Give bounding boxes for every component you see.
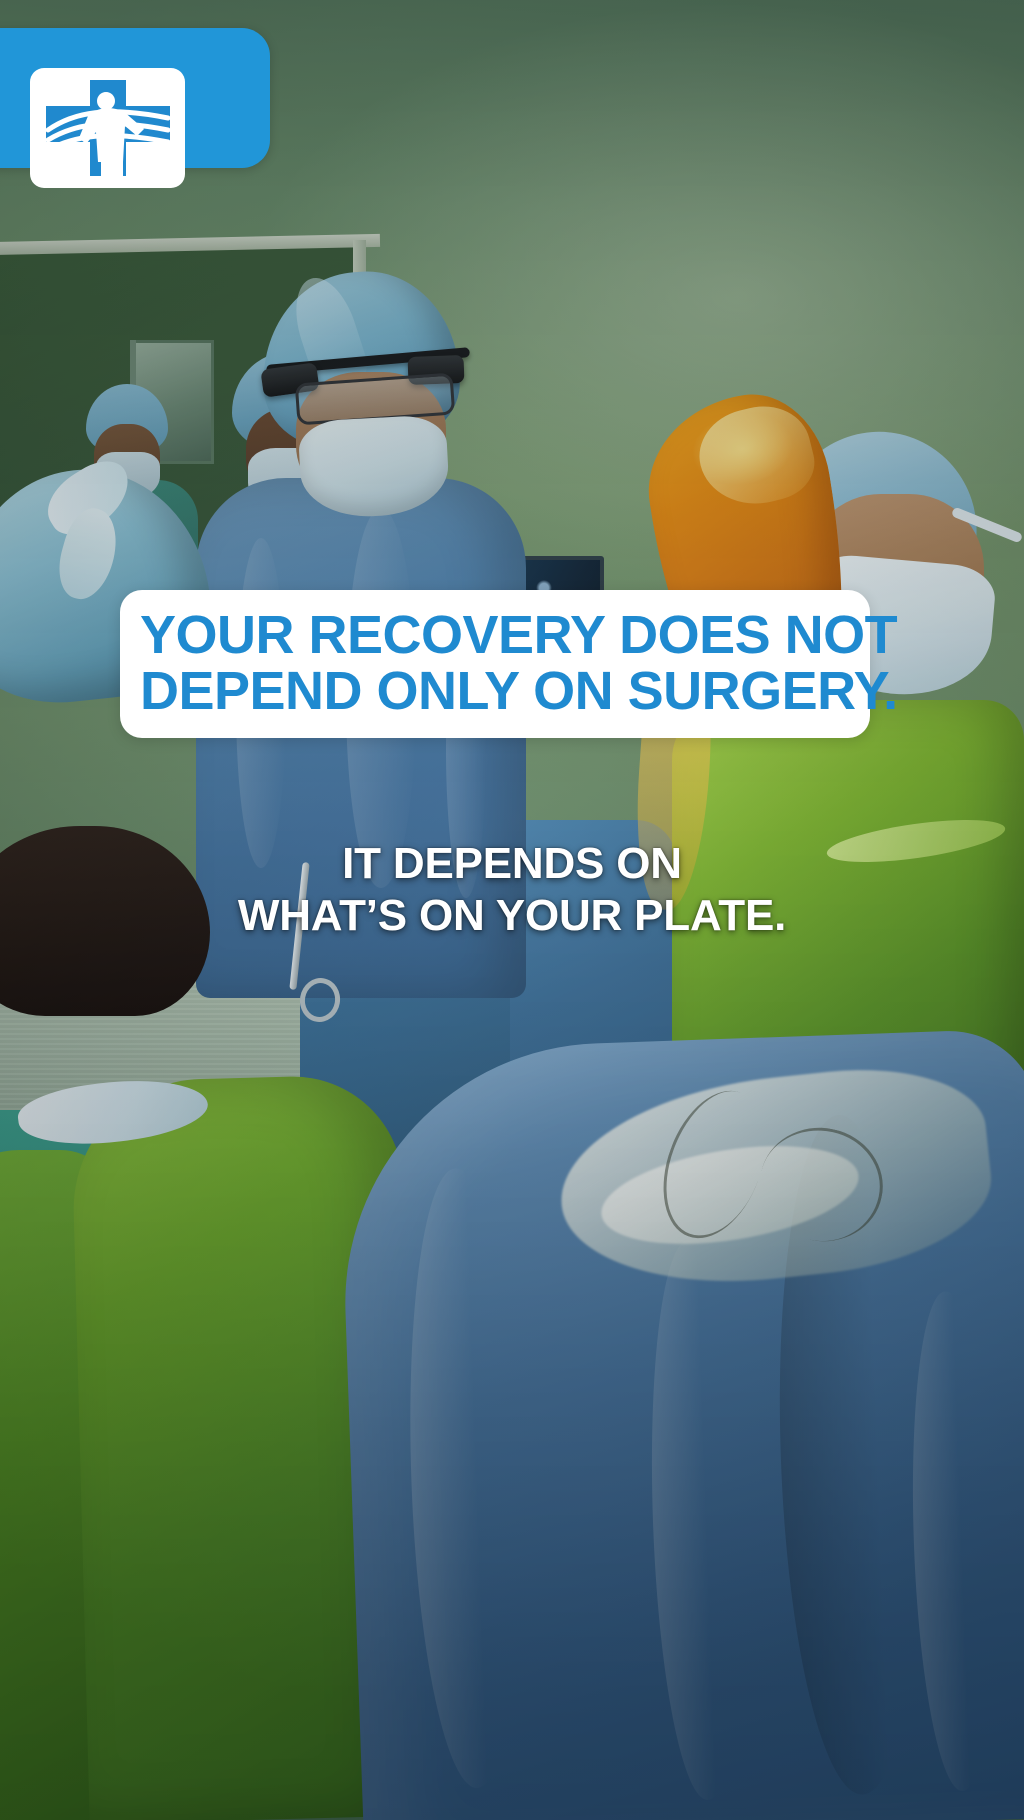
medical-cross-family-icon	[44, 78, 172, 178]
brand-logo-tab[interactable]	[0, 28, 270, 168]
poster-canvas: YOUR RECOVERY DOES NOT DEPEND ONLY ON SU…	[0, 0, 1024, 1820]
headline-banner: YOUR RECOVERY DOES NOT DEPEND ONLY ON SU…	[120, 590, 870, 738]
subheadline: IT DEPENDS ON WHAT’S ON YOUR PLATE.	[0, 838, 1024, 942]
subheadline-line-1: IT DEPENDS ON	[0, 838, 1024, 890]
headline-line-2: DEPEND ONLY ON SURGERY.	[140, 663, 850, 719]
brand-logo-card	[30, 68, 185, 188]
subheadline-line-2: WHAT’S ON YOUR PLATE.	[0, 890, 1024, 942]
headline-line-1: YOUR RECOVERY DOES NOT	[140, 607, 850, 663]
